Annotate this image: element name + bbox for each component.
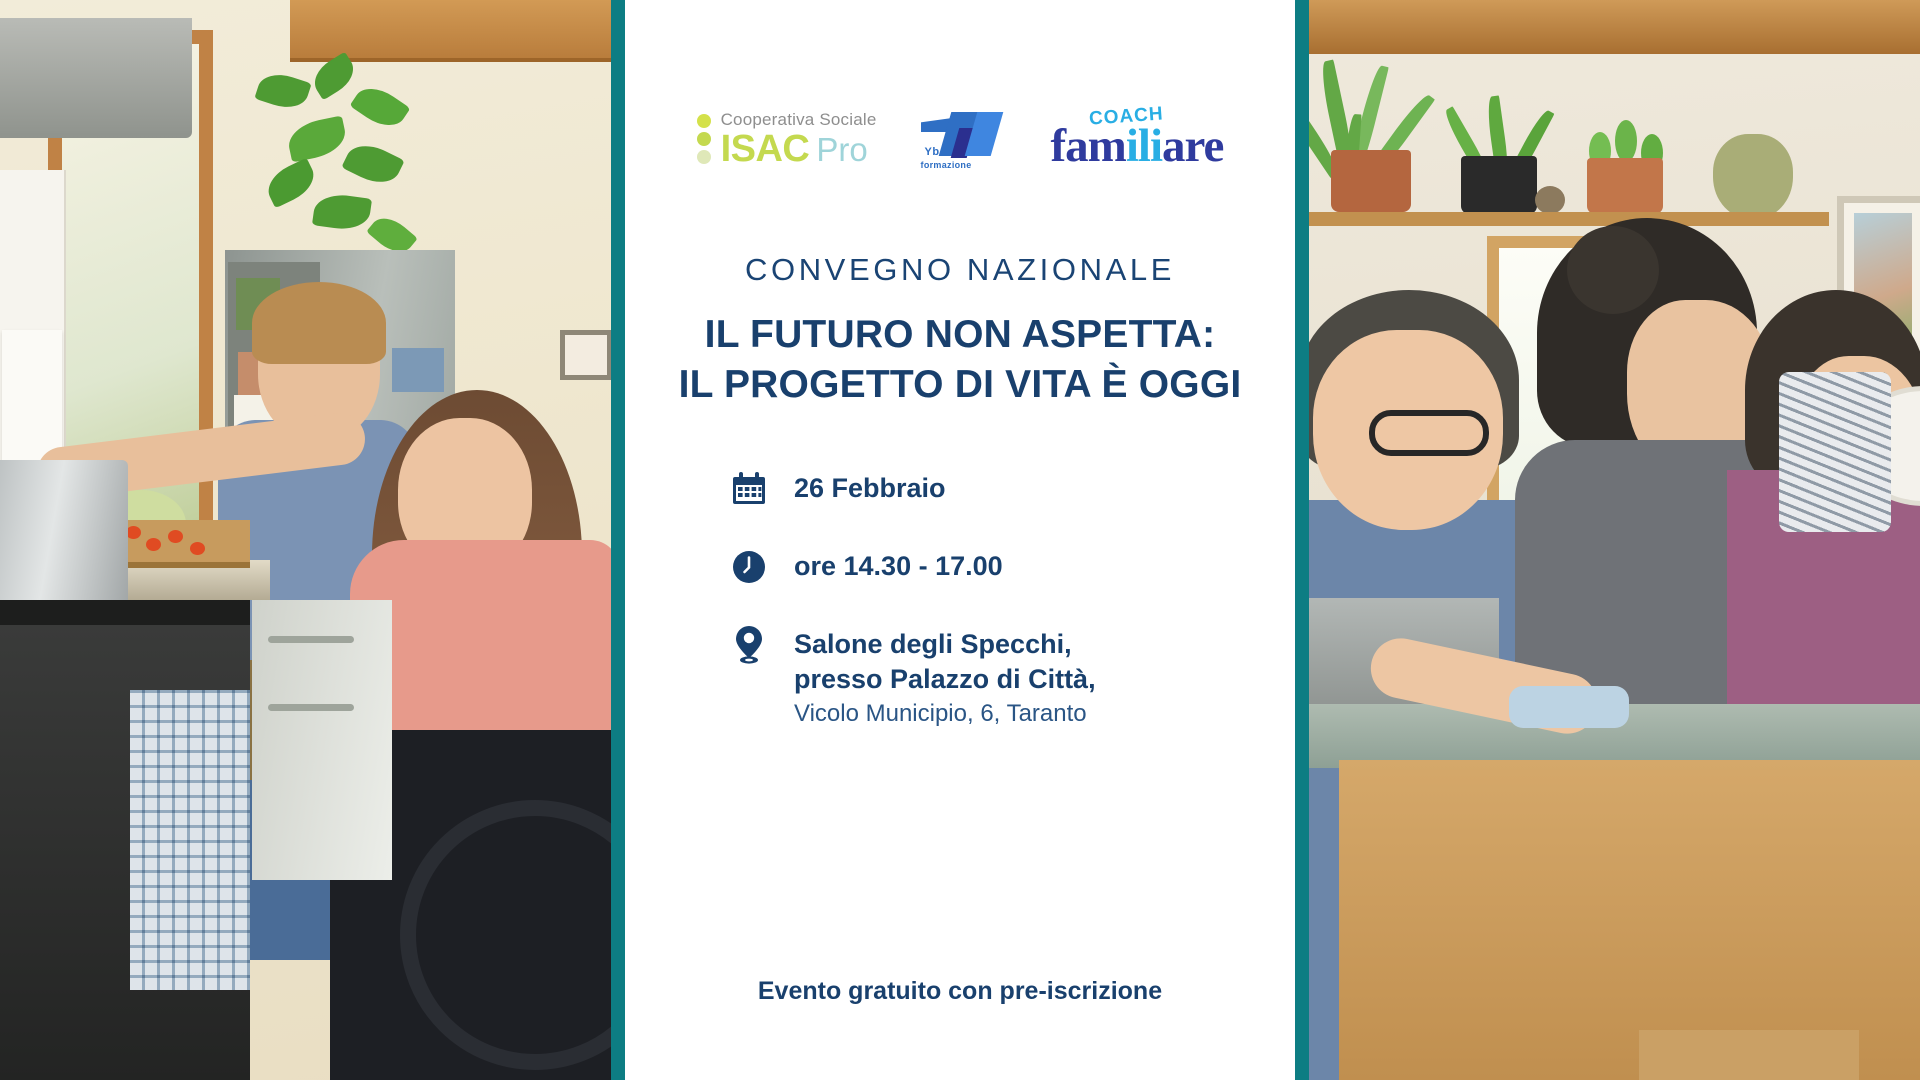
hanging-plant <box>1713 134 1793 220</box>
venue-name-line-1: Salone degli Specchi, <box>794 627 1096 663</box>
detail-row-date: 26 Febbraio <box>730 468 1190 510</box>
leaf <box>1615 120 1637 162</box>
venue-name-line-2: presso Palazzo di Città, <box>794 662 1096 698</box>
headline-line-1: IL FUTURO NON ASPETTA: <box>679 310 1242 360</box>
houseplant <box>250 55 440 265</box>
leaf <box>262 158 321 209</box>
clock-icon <box>730 546 768 588</box>
poster-center-column: Cooperativa Sociale ISAC Pro Yb formazio… <box>625 0 1295 1080</box>
calendar-icon <box>730 468 768 510</box>
event-poster: Cooperativa Sociale ISAC Pro Yb formazio… <box>0 0 1920 1080</box>
decor-ball <box>1535 186 1565 214</box>
event-kicker: CONVEGNO NAZIONALE <box>745 252 1175 288</box>
young-man-hair <box>252 282 386 364</box>
leaf <box>341 137 404 191</box>
woman-one-bun <box>1567 226 1659 314</box>
detail-text-time: ore 14.30 - 17.00 <box>794 546 1003 585</box>
logo-coach-familiare: COACH familiare <box>1051 108 1224 170</box>
photo-right-kitchen-cleaning <box>1295 0 1920 1080</box>
logo-row: Cooperativa Sociale ISAC Pro Yb formazio… <box>625 104 1295 174</box>
familiare-wordmark: familiare <box>1051 123 1224 170</box>
isac-name: ISAC <box>721 130 810 168</box>
chopped-tomato <box>146 538 161 551</box>
right-photo-scene <box>1309 0 1920 1080</box>
chopped-tomato <box>126 526 141 539</box>
logo-yb-formazione: Yb formazione <box>921 108 1007 170</box>
ceiling-beam <box>1309 0 1920 54</box>
detail-row-time: ore 14.30 - 17.00 <box>730 546 1190 588</box>
detail-text-venue: Salone degli Specchi, presso Palazzo di … <box>794 624 1096 730</box>
headline-line-2: IL PROGETTO DI VITA È OGGI <box>679 360 1242 410</box>
eyeglasses-icon <box>1369 410 1489 456</box>
range-hood <box>0 18 192 138</box>
terracotta-pot <box>1587 158 1663 214</box>
yb-name: Yb <box>925 146 940 158</box>
dish-towel <box>1779 372 1891 532</box>
familiare-suffix: are <box>1162 120 1223 172</box>
cabinet-handle <box>268 636 354 643</box>
left-photo-scene <box>0 0 611 1080</box>
location-pin-icon <box>730 624 768 666</box>
cleaning-cloth <box>1509 686 1629 728</box>
isac-wordmark: Cooperativa Sociale ISAC Pro <box>721 111 877 168</box>
black-pot <box>1461 156 1537 214</box>
logo-isac-pro: Cooperativa Sociale ISAC Pro <box>697 111 877 168</box>
leaf <box>285 115 349 162</box>
event-headline: IL FUTURO NON ASPETTA: IL PROGETTO DI VI… <box>679 310 1242 410</box>
chopped-tomato <box>168 530 183 543</box>
terracotta-pot <box>1331 150 1411 212</box>
cabinet-handle <box>268 704 354 711</box>
detail-text-date: 26 Febbraio <box>794 468 946 507</box>
fridge-photo <box>392 348 444 392</box>
detail-row-venue: Salone degli Specchi, presso Palazzo di … <box>730 624 1190 730</box>
venue-address: Vicolo Municipio, 6, Taranto <box>794 698 1096 730</box>
event-details: 26 Febbraio ore 14.30 - 17.00 <box>730 468 1190 766</box>
isac-suffix: Pro <box>816 133 867 166</box>
leaf <box>349 79 410 135</box>
event-date: 26 Febbraio <box>794 471 946 507</box>
registration-note: Evento gratuito con pre-iscrizione <box>758 977 1162 1006</box>
yb-tagline: formazione <box>921 160 972 170</box>
kitchen-towel <box>130 690 250 990</box>
leaf <box>307 52 360 101</box>
isac-tagline: Cooperativa Sociale <box>721 111 877 128</box>
chopped-tomato <box>190 542 205 555</box>
familiare-highlight: ili <box>1126 120 1162 172</box>
wall-picture-frame <box>560 330 612 380</box>
photo-left-kitchen-cooking <box>0 0 625 1080</box>
isac-dots-icon <box>697 114 711 164</box>
event-time: ore 14.30 - 17.00 <box>794 549 1003 585</box>
leaf <box>312 191 372 232</box>
plant-shelf <box>1309 212 1829 226</box>
ceiling-beam <box>290 0 625 62</box>
wooden-stool <box>1639 1030 1859 1080</box>
leaf <box>254 68 311 114</box>
